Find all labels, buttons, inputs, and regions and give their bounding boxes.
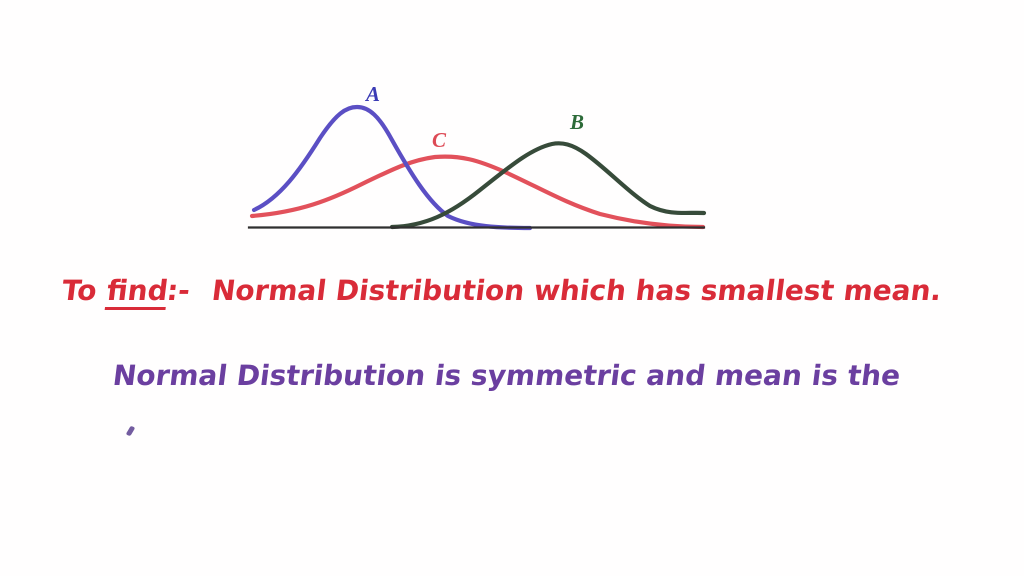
note-line-1-rest: Normal Distribution which has smallest m… (210, 277, 943, 305)
whiteboard-page: A C B Tofind:-Normal Distribution which … (0, 0, 1024, 576)
normal-curves-svg (0, 0, 1024, 250)
distribution-chart: A C B (0, 0, 1024, 250)
note-line-1-underlined-word: find (105, 277, 169, 305)
note-line-3-stroke-fragment (126, 426, 136, 437)
note-line-1: Tofind:-Normal Distribution which has sm… (62, 277, 942, 305)
note-line-2-text: Normal Distribution is symmetric and mea… (111, 362, 902, 390)
handwritten-notes: Tofind:-Normal Distribution which has sm… (0, 250, 1024, 576)
curve-label-a: A (366, 84, 380, 105)
note-line-2: Normal Distribution is symmetric and mea… (113, 362, 900, 390)
curve-label-c: C (432, 130, 446, 151)
note-line-1-colon-dash: :- (166, 277, 192, 305)
note-line-1-prefix: To (60, 277, 98, 305)
curve-label-b: B (570, 112, 584, 133)
